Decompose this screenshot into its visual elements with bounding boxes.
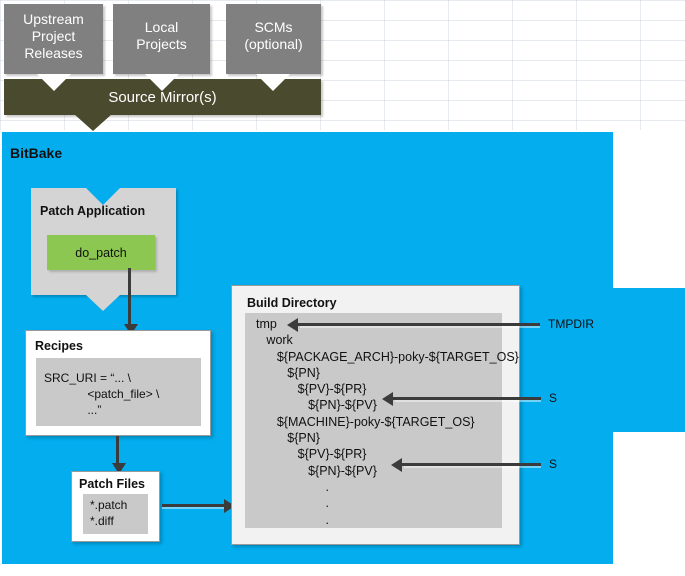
source-box-label: SCMs (optional) <box>244 19 302 53</box>
source-box-label: Upstream Project Releases <box>23 11 84 62</box>
patch-files-entries: *.patch *.diff <box>90 497 127 529</box>
source-box-label: Local Projects <box>136 19 187 53</box>
annotation-tmpdir: TMPDIR <box>548 317 594 331</box>
annotation-s-lower: S <box>549 457 557 471</box>
arrow-recipes-to-patch-files-line <box>116 436 119 466</box>
source-mirrors-label: Source Mirror(s) <box>108 89 216 106</box>
build-directory-title: Build Directory <box>247 296 337 310</box>
build-directory-tree: tmp work ${PACKAGE_ARCH}-poky-${TARGET_O… <box>256 316 519 528</box>
recipes-src-uri-code: SRC_URI = “... \ <patch_file> \ ...” <box>44 370 159 418</box>
notch-local-projects-icon <box>145 74 179 91</box>
source-box-upstream-project-releases: Upstream Project Releases <box>4 4 103 74</box>
diagram-canvas: Upstream Project Releases Local Projects… <box>0 0 685 576</box>
bitbake-top-notch-icon <box>76 132 110 149</box>
source-box-local-projects: Local Projects <box>113 4 210 74</box>
arrow-s-lower-highlight <box>404 466 541 468</box>
source-box-scms: SCMs (optional) <box>226 4 321 74</box>
annotation-s-upper: S <box>549 391 557 405</box>
arrow-s-upper-head-icon <box>382 392 393 406</box>
notch-upstream-icon <box>37 74 71 91</box>
arrow-tmpdir-head-icon <box>287 318 298 332</box>
notch-scms-icon <box>256 74 290 91</box>
arrow-s-lower-head-icon <box>391 458 402 472</box>
arrow-patch-files-highlight <box>162 507 227 509</box>
patch-application-bottom-point-icon <box>86 295 120 311</box>
arrow-s-upper-highlight <box>395 400 541 402</box>
bitbake-region-extension <box>611 288 685 432</box>
do-patch-label: do_patch <box>75 246 126 260</box>
patch-application-top-notch-icon <box>86 188 120 205</box>
arrow-tmpdir-highlight <box>300 326 540 328</box>
source-mirrors-arrow-icon <box>74 114 112 131</box>
patch-application-title: Patch Application <box>40 204 145 218</box>
recipes-title: Recipes <box>35 339 83 353</box>
patch-files-title: Patch Files <box>79 477 145 491</box>
do-patch-task[interactable]: do_patch <box>47 235 155 270</box>
arrow-do-patch-to-recipes-line <box>128 268 131 326</box>
bitbake-label: BitBake <box>10 145 62 161</box>
